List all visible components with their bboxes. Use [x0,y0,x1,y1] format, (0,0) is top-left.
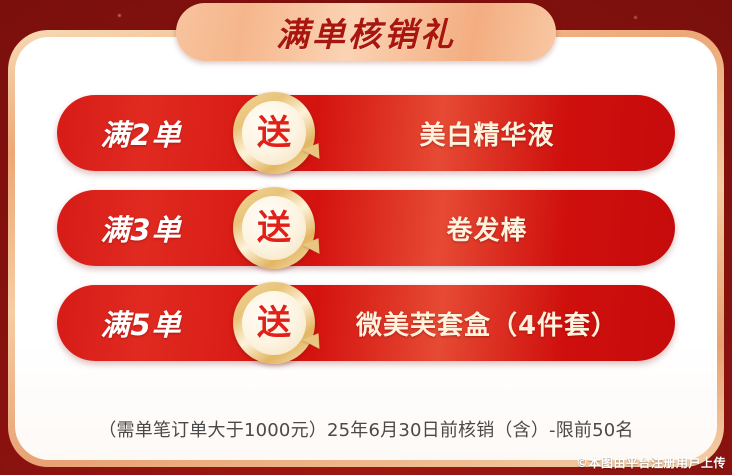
content-card: 满2单 送 美白精华液 满3单 [8,30,724,467]
gift-badge-inner: 送 [242,196,306,260]
prize-row[interactable]: 满2单 送 美白精华液 [57,95,675,171]
prize-row[interactable]: 满5单 送 微美芙套盒（4件套） [57,285,675,361]
gift-badge-wrap: 送 [225,285,321,361]
gift-badge-inner: 送 [242,101,306,165]
prize-name-label: 卷发棒 [321,210,675,247]
gift-badge-wrap: 送 [225,95,321,171]
gift-badge-icon: 送 [233,187,315,269]
prize-threshold-label: 满5单 [57,302,225,344]
gift-badge-label: 送 [257,116,291,150]
gift-badge-wrap: 送 [225,190,321,266]
gift-badge-label: 送 [257,306,291,340]
prize-threshold-label: 满3单 [57,207,225,249]
sparkle-dot [118,14,121,17]
prize-row[interactable]: 满3单 送 卷发棒 [57,190,675,266]
sparkle-dot [634,16,637,19]
gift-badge-label: 送 [257,211,291,245]
gift-badge-inner: 送 [242,291,306,355]
content-card-inner: 满2单 送 美白精华液 满3单 [15,37,717,460]
prize-name-label: 美白精华液 [321,115,675,152]
prize-name-label: 微美芙套盒（4件套） [321,305,675,342]
gift-badge-icon: 送 [233,92,315,174]
prize-threshold-label: 满2单 [57,112,225,154]
page-title: 满单核销礼 [276,8,456,56]
promo-banner: 满2单 送 美白精华液 满3单 [0,0,732,475]
gift-badge-icon: 送 [233,282,315,364]
terms-note: （需单笔订单大于1000元）25年6月30日前核销（含）-限前50名 [15,416,717,442]
watermark-label: ©本图由平台注册用户上传 [566,451,732,475]
prize-row-list: 满2单 送 美白精华液 满3单 [15,95,717,380]
title-capsule: 满单核销礼 [176,3,556,61]
